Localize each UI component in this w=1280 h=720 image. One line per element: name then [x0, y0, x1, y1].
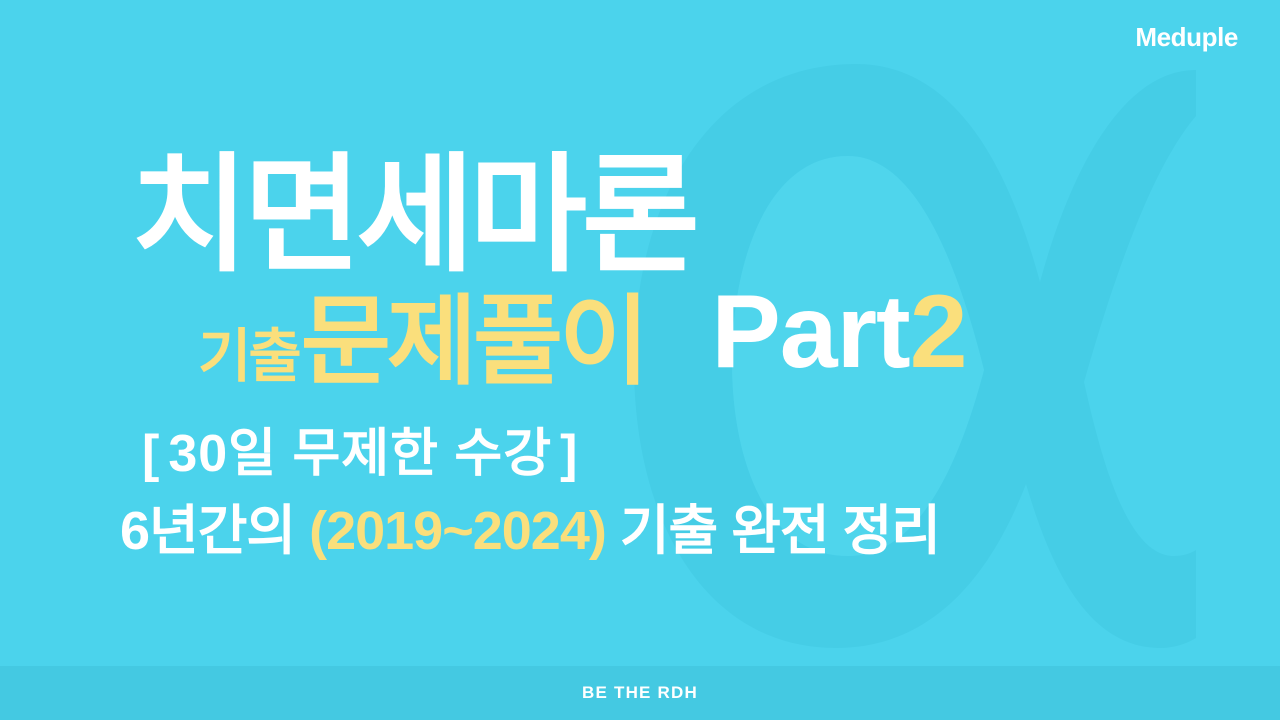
part-word: Part: [711, 274, 909, 390]
subtitle-main: 문제풀이: [301, 292, 646, 390]
bracket-close: ]: [552, 425, 586, 483]
footer-tagline: BE THE RDH: [582, 683, 698, 703]
part-index: 2: [910, 274, 967, 390]
page-title: 치면세마론: [131, 152, 695, 280]
subtitle-prefix: 기출: [198, 328, 299, 386]
coverage-prefix: 6년간의: [120, 501, 295, 561]
duration-line: [30일 무제한 수강]: [134, 428, 586, 480]
footer-bar: BE THE RDH: [0, 666, 1280, 720]
hero-content: 치면세마론 기출 문제풀이 Part2 [30일 무제한 수강] 6년간의 (2…: [0, 0, 1280, 666]
brand-logo: Meduple: [1135, 24, 1238, 50]
coverage-line: 6년간의 (2019~2024) 기출 완전 정리: [120, 504, 940, 558]
bracket-open: [: [134, 425, 168, 483]
coverage-years: (2019~2024): [309, 501, 606, 561]
course-banner: Meduple 치면세마론 기출 문제풀이 Part2 [30일 무제한 수강]…: [0, 0, 1280, 720]
subtitle-row: 기출 문제풀이 Part2: [198, 286, 967, 390]
duration-text: 30일 무제한 수강: [168, 425, 552, 483]
part-label: Part2: [711, 280, 966, 384]
coverage-suffix: 기출 완전 정리: [620, 501, 940, 561]
